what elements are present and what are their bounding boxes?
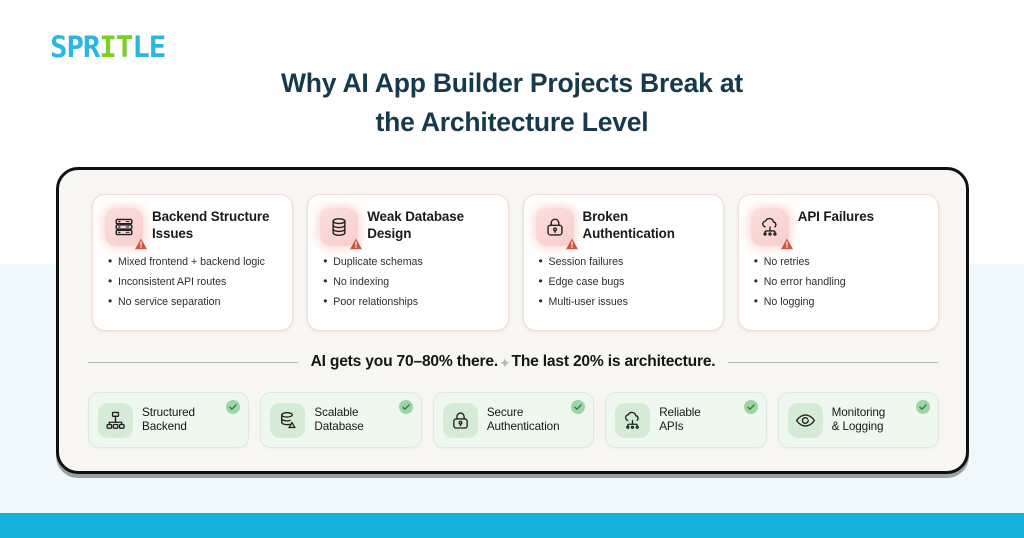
server-rack-icon [113, 216, 135, 238]
divider-rule-right [728, 362, 938, 363]
divider-statement: AI gets you 70–80% there. ✦ The last 20%… [88, 353, 938, 371]
list-item: No retries [753, 256, 926, 269]
problem-icon-tile [751, 208, 789, 246]
problem-card-title: API Failures [798, 208, 874, 226]
list-item: Session failures [538, 256, 711, 269]
background-band-cyan [0, 513, 1024, 538]
list-item: Poor relationships [322, 296, 495, 309]
solution-label-line-1: Structured [142, 406, 195, 420]
list-item: No error handling [753, 276, 926, 289]
problem-cards-row: Backend Structure Issues Mixed frontend … [92, 194, 939, 331]
problem-card-bullets: No retries No error handling No logging [753, 256, 926, 309]
eye-icon [795, 410, 816, 431]
check-circle-icon [399, 400, 413, 414]
solution-label-line-1: Reliable [659, 406, 700, 420]
sitemap-icon [105, 410, 126, 431]
problem-icon-tile [105, 208, 143, 246]
solution-chip-structured-backend[interactable]: Structured Backend [88, 392, 249, 448]
cloud-network-icon [759, 216, 781, 238]
problem-card-backend-structure: Backend Structure Issues Mixed frontend … [92, 194, 293, 331]
database-check-icon [277, 410, 298, 431]
page-title-line-1: Why AI App Builder Projects Break at [0, 64, 1024, 103]
warning-triangle-icon [565, 237, 579, 251]
solution-icon-tile [443, 403, 478, 438]
problem-card-header: Backend Structure Issues [105, 208, 280, 246]
list-item: No indexing [322, 276, 495, 289]
problem-card-header: Broken Authentication [536, 208, 711, 246]
list-item: Inconsistent API routes [107, 276, 280, 289]
list-item: No logging [753, 296, 926, 309]
list-item: Mixed frontend + backend logic [107, 256, 280, 269]
problem-card-bullets: Mixed frontend + backend logic Inconsist… [107, 256, 280, 309]
problem-card-header: API Failures [751, 208, 926, 246]
solution-chips-row: Structured Backend [88, 392, 939, 448]
problem-card-bullets: Duplicate schemas No indexing Poor relat… [322, 256, 495, 309]
problem-icon-tile [320, 208, 358, 246]
solution-chip-label: Scalable Database [314, 406, 363, 434]
solution-chip-label: Secure Authentication [487, 406, 560, 434]
divider-text-before: AI gets you 70–80% there. [311, 353, 498, 371]
logo-text-part3: LE [132, 30, 165, 64]
solution-label-line-1: Secure [487, 406, 560, 420]
solution-chip-label: Reliable APIs [659, 406, 700, 434]
solution-chip-scalable-database[interactable]: Scalable Database [260, 392, 421, 448]
problem-card-title: Backend Structure Issues [152, 208, 280, 242]
list-item: Edge case bugs [538, 276, 711, 289]
solution-label-line-2: Database [314, 420, 363, 434]
divider-rule-left [88, 362, 298, 363]
lock-icon [544, 216, 566, 238]
check-circle-icon [916, 400, 930, 414]
main-panel: Backend Structure Issues Mixed frontend … [56, 167, 969, 474]
list-item: Duplicate schemas [322, 256, 495, 269]
cloud-network-icon [622, 410, 643, 431]
solution-label-line-2: APIs [659, 420, 700, 434]
solution-icon-tile [615, 403, 650, 438]
solution-chip-monitoring-logging[interactable]: Monitoring & Logging [778, 392, 939, 448]
page-title-line-2: the Architecture Level [0, 103, 1024, 142]
sparkle-icon: ✦ [499, 355, 511, 372]
solution-chip-reliable-apis[interactable]: Reliable APIs [605, 392, 766, 448]
problem-card-bullets: Session failures Edge case bugs Multi-us… [538, 256, 711, 309]
warning-triangle-icon [349, 237, 363, 251]
divider-statement-text: AI gets you 70–80% there. ✦ The last 20%… [311, 353, 716, 371]
solution-icon-tile [98, 403, 133, 438]
solution-icon-tile [788, 403, 823, 438]
problem-card-api-failures: API Failures No retries No error handlin… [738, 194, 939, 331]
solution-chip-secure-authentication[interactable]: Secure Authentication [433, 392, 594, 448]
warning-triangle-icon [780, 237, 794, 251]
solution-label-line-1: Scalable [314, 406, 363, 420]
check-circle-icon [226, 400, 240, 414]
infographic-page: SPRITLE Why AI App Builder Projects Brea… [0, 0, 1024, 538]
list-item: Multi-user issues [538, 296, 711, 309]
solution-label-line-1: Monitoring [832, 406, 886, 420]
divider-text-after: The last 20% is architecture. [512, 353, 716, 371]
problem-card-title: Broken Authentication [583, 208, 711, 242]
logo-text-part1: SPR [50, 30, 99, 64]
page-title: Why AI App Builder Projects Break at the… [0, 64, 1024, 142]
list-item: No service separation [107, 296, 280, 309]
solution-label-line-2: & Logging [832, 420, 886, 434]
solution-chip-label: Monitoring & Logging [832, 406, 886, 434]
problem-card-title: Weak Database Design [367, 208, 495, 242]
solution-label-line-2: Authentication [487, 420, 560, 434]
problem-icon-tile [536, 208, 574, 246]
spritle-logo[interactable]: SPRITLE [50, 33, 165, 62]
solution-chip-label: Structured Backend [142, 406, 195, 434]
solution-label-line-2: Backend [142, 420, 195, 434]
logo-text-part2: IT [99, 30, 132, 64]
database-icon [328, 216, 350, 238]
problem-card-header: Weak Database Design [320, 208, 495, 246]
problem-card-weak-database: Weak Database Design Duplicate schemas N… [307, 194, 508, 331]
solution-icon-tile [270, 403, 305, 438]
problem-card-broken-authentication: Broken Authentication Session failures E… [523, 194, 724, 331]
check-circle-icon [571, 400, 585, 414]
check-circle-icon [744, 400, 758, 414]
warning-triangle-icon [134, 237, 148, 251]
lock-icon [450, 410, 471, 431]
